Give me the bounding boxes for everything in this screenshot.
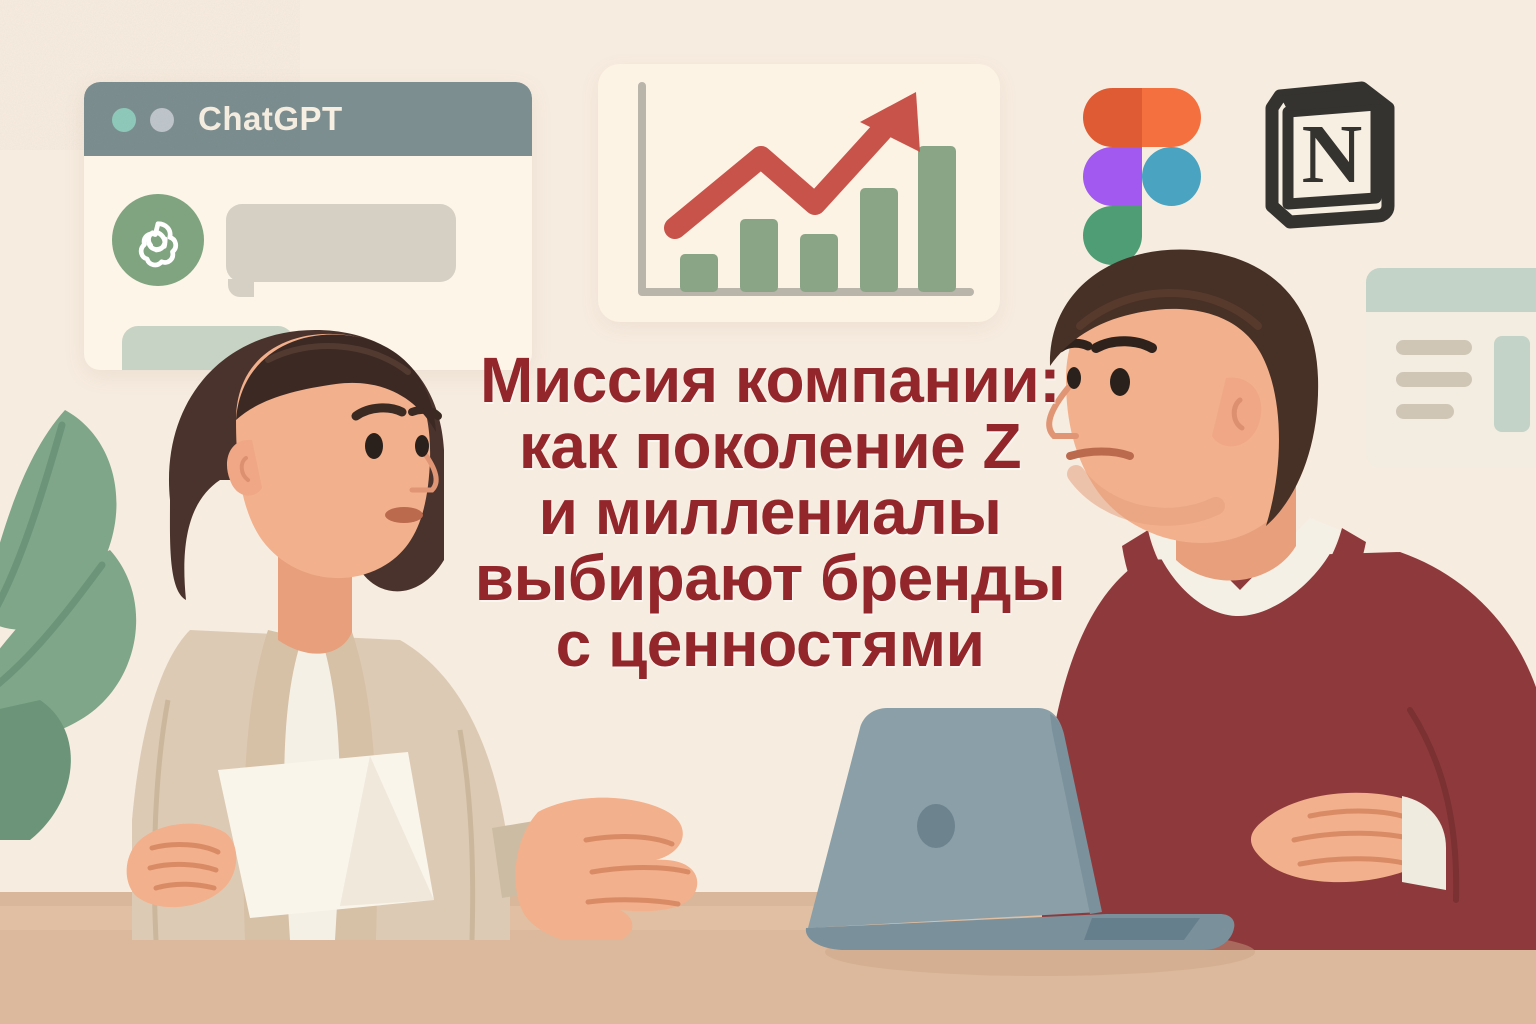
assistant-message-bubble: [226, 204, 456, 282]
chart-bar: [860, 188, 898, 292]
title-line-1: Миссия компании:: [400, 348, 1140, 414]
chart-bar: [680, 254, 718, 292]
laptop-keyboard: [1084, 918, 1200, 940]
laptop-logo-icon: [917, 804, 955, 848]
woman-eye: [365, 433, 383, 459]
poster-canvas: ChatGPT: [0, 0, 1536, 1024]
openai-logo-icon: [112, 194, 204, 286]
svg-text:N: N: [1302, 108, 1363, 201]
bar-chart: [598, 64, 1000, 322]
title-line-3: и миллениалы: [400, 480, 1140, 546]
page-title: Миссия компании: как поколение Z и милле…: [400, 348, 1140, 678]
traffic-light-green-icon[interactable]: [112, 108, 136, 132]
chart-bar: [918, 146, 956, 292]
chart-bar: [800, 234, 838, 292]
title-line-4: выбирают бренды: [400, 546, 1140, 612]
growth-chart-card: [598, 64, 1000, 322]
chart-bar: [740, 219, 778, 292]
notion-logo: N: [1258, 78, 1406, 230]
chatgpt-window-title: ChatGPT: [198, 100, 343, 138]
title-line-5: с ценностями: [400, 612, 1140, 678]
laptop-rear-view: [800, 700, 1270, 990]
traffic-light-gray-icon[interactable]: [150, 108, 174, 132]
title-line-2: как поколение Z: [400, 414, 1140, 480]
